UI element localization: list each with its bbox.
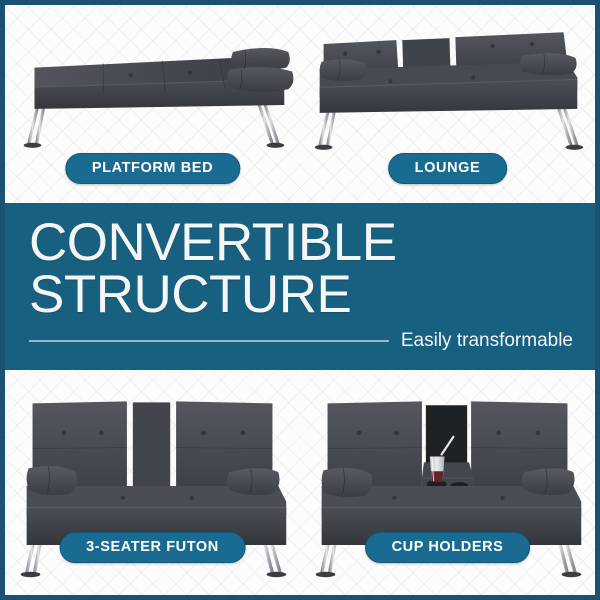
headline-banner: CONVERTIBLE STRUCTURE Easily transformab… — [5, 203, 595, 370]
panel-3-seater-futon: 3-SEATER FUTON — [5, 370, 300, 595]
banner-title-line-2: STRUCTURE — [29, 269, 573, 321]
panel-cup-holders: CUP HOLDERS — [300, 370, 595, 595]
badge-3-seater-futon: 3-SEATER FUTON — [59, 532, 246, 563]
panel-platform-bed: PLATFORM BED — [5, 5, 300, 203]
badge-platform-bed: PLATFORM BED — [65, 153, 240, 184]
top-panel-row: PLATFORM BED — [5, 5, 595, 203]
banner-subtitle: Easily transformable — [401, 330, 573, 352]
panel-lounge: LOUNGE — [300, 5, 595, 203]
banner-title-line-1: CONVERTIBLE — [29, 213, 397, 272]
banner-title: CONVERTIBLE STRUCTURE — [29, 217, 573, 321]
infographic-frame: PLATFORM BED — [0, 0, 600, 600]
banner-subtitle-row: Easily transformable — [29, 330, 573, 352]
badge-cup-holders: CUP HOLDERS — [365, 532, 531, 563]
bottom-panel-row: 3-SEATER FUTON — [5, 370, 595, 595]
badge-lounge: LOUNGE — [388, 153, 508, 184]
subtitle-rule — [29, 340, 389, 342]
